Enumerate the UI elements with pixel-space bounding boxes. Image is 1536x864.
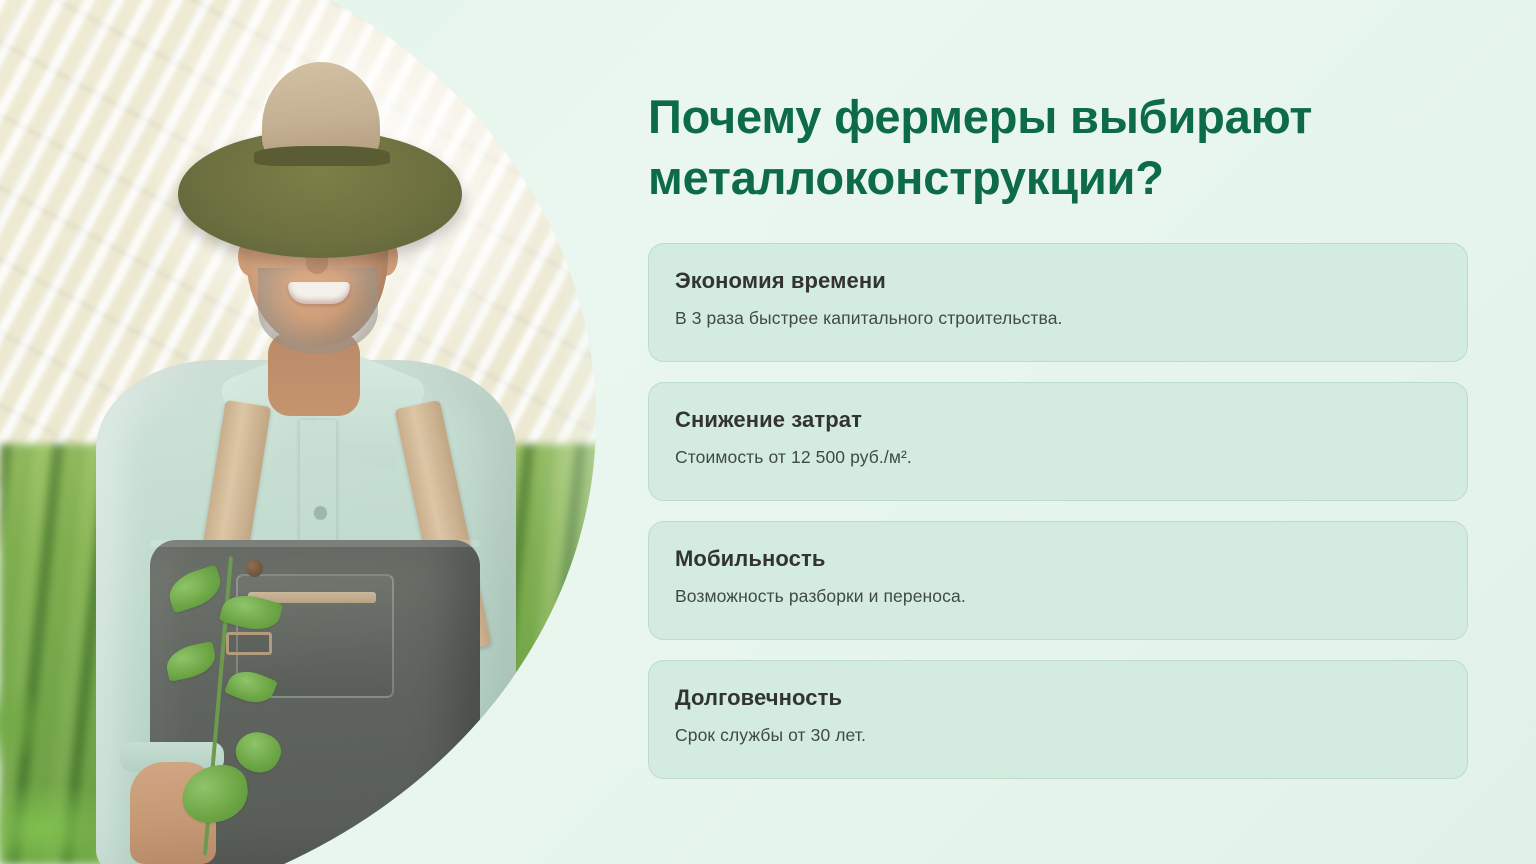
farmer-beard (258, 268, 378, 354)
benefit-card-durability[interactable]: Долговечность Срок службы от 30 лет. (648, 660, 1468, 779)
benefit-card-title: Долговечность (675, 685, 1441, 711)
benefit-card-description: Стоимость от 12 500 руб./м². (675, 447, 1441, 468)
benefit-card-title: Снижение затрат (675, 407, 1441, 433)
shirt-button (314, 506, 327, 519)
benefit-card-title: Мобильность (675, 546, 1441, 572)
benefit-card-description: Срок службы от 30 лет. (675, 725, 1441, 746)
overalls-buckle (226, 632, 272, 655)
benefit-card-title: Экономия времени (675, 268, 1441, 294)
hat-band (254, 146, 390, 166)
slide-root: Почему фермеры выбирают металлоконструкц… (0, 0, 1536, 864)
farmer-figure (0, 0, 600, 864)
benefit-card-time-saving[interactable]: Экономия времени В 3 раза быстрее капита… (648, 243, 1468, 362)
benefit-card-mobility[interactable]: Мобильность Возможность разборки и перен… (648, 521, 1468, 640)
smiling-mouth (288, 282, 350, 304)
overalls-button (246, 560, 263, 577)
benefit-card-description: Возможность разборки и переноса. (675, 586, 1441, 607)
page-title: Почему фермеры выбирают металлоконструкц… (648, 86, 1448, 208)
benefit-card-description: В 3 раза быстрее капитального строительс… (675, 308, 1441, 329)
benefit-card-cost-reduction[interactable]: Снижение затрат Стоимость от 12 500 руб.… (648, 382, 1468, 501)
hero-photo-panel (0, 0, 600, 864)
overalls-bib-edge (150, 540, 480, 547)
content-column: Почему фермеры выбирают металлоконструкц… (648, 0, 1472, 864)
benefits-list: Экономия времени В 3 раза быстрее капита… (648, 243, 1468, 779)
